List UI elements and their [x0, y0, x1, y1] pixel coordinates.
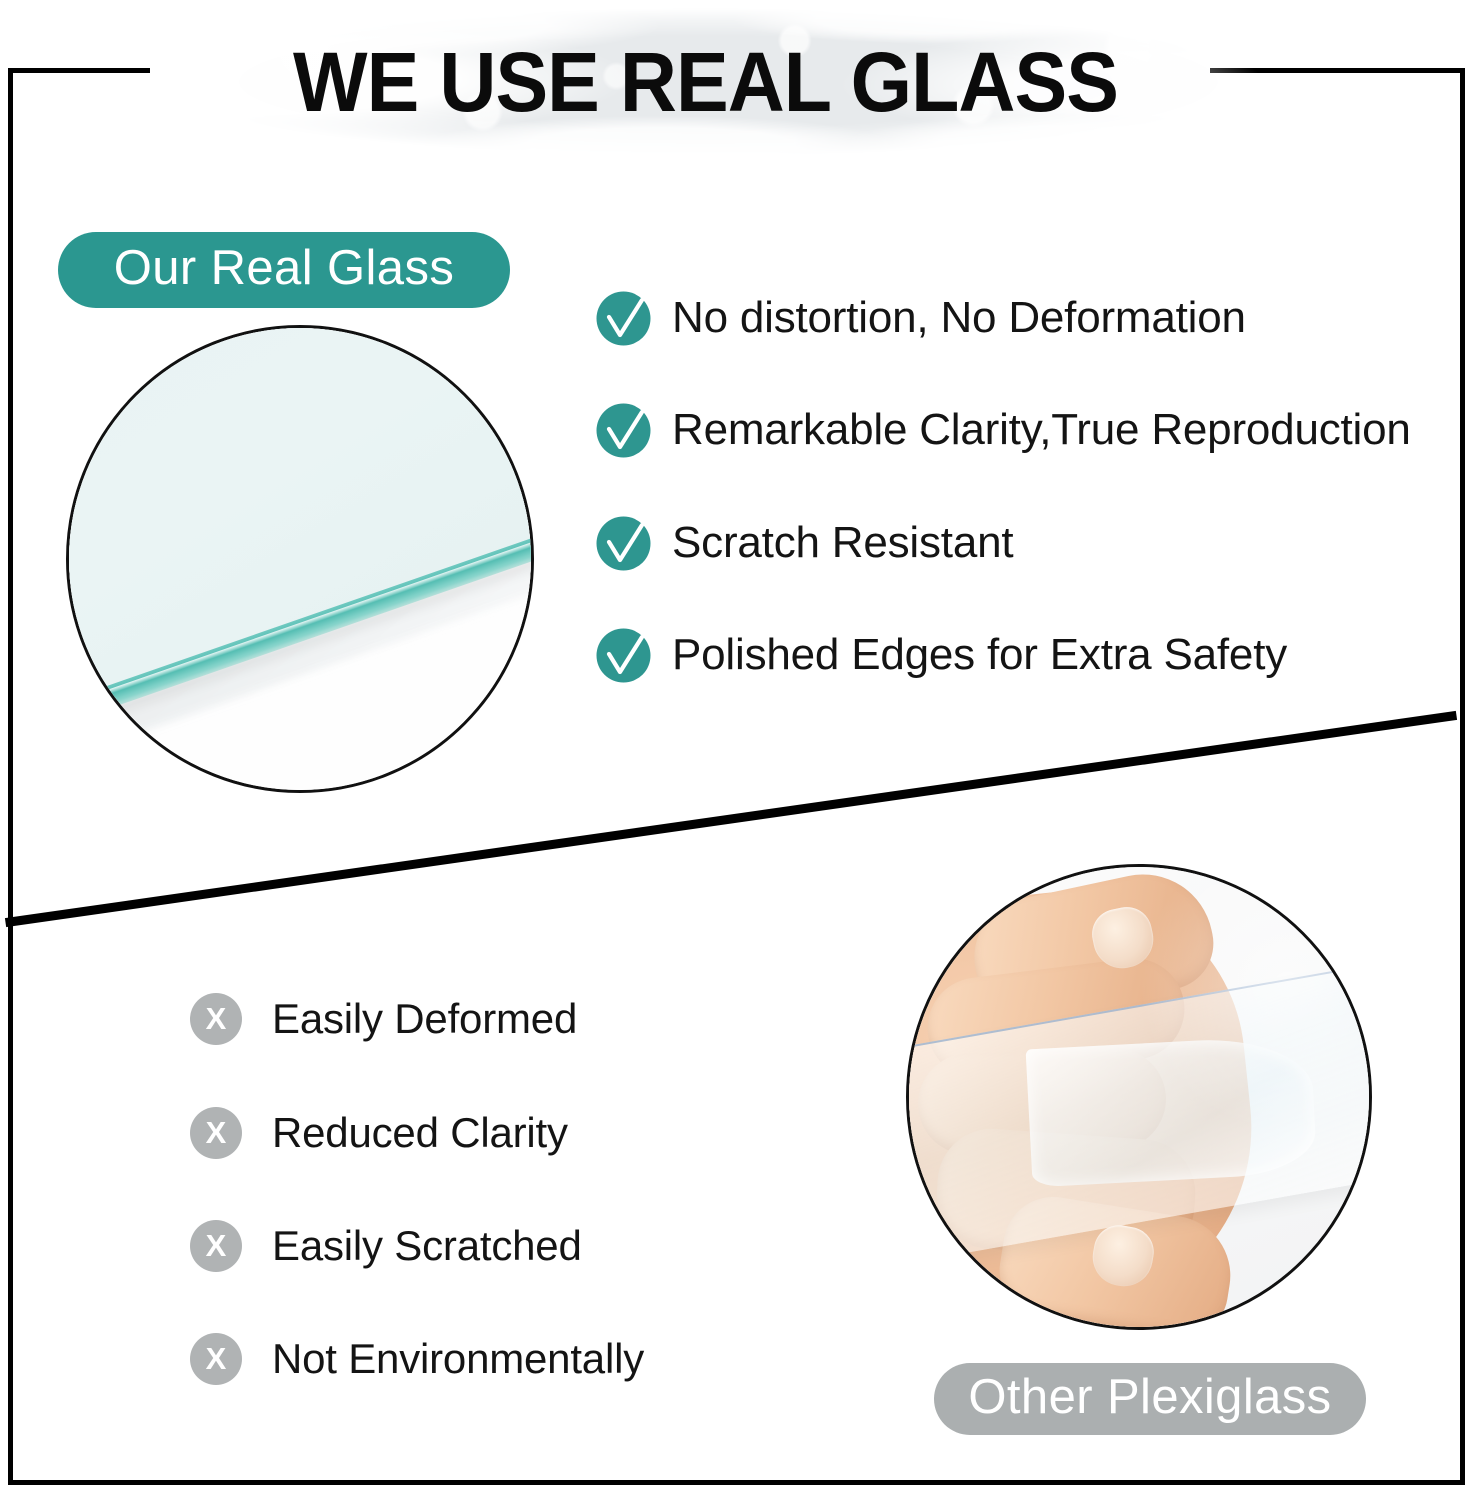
- list-item-label: Easily Scratched: [272, 1221, 582, 1271]
- list-item: X Easily Deformed: [190, 990, 577, 1048]
- our-real-glass-badge: Our Real Glass: [58, 232, 510, 308]
- x-icon: X: [190, 993, 242, 1045]
- check-icon: [596, 291, 651, 346]
- list-item: X Reduced Clarity: [190, 1104, 568, 1162]
- real-glass-photo: [66, 325, 534, 793]
- check-icon: [596, 628, 651, 683]
- x-icon: X: [190, 1220, 242, 1272]
- other-plexiglass-badge: Other Plexiglass: [934, 1363, 1366, 1435]
- list-item-label: No distortion, No Deformation: [672, 292, 1246, 344]
- title-banner: WE USE REAL GLASS: [148, 8, 1263, 156]
- list-item: Scratch Resistant: [596, 513, 1013, 573]
- other-plexiglass-badge-label: Other Plexiglass: [968, 1369, 1331, 1425]
- list-item-label: Remarkable Clarity,True Reproduction: [672, 404, 1411, 456]
- page-title: WE USE REAL GLASS: [181, 32, 1229, 132]
- hand-photo-gloss: [1139, 885, 1372, 1133]
- list-item: X Not Environmentally: [190, 1330, 644, 1388]
- list-item: X Easily Scratched: [190, 1217, 582, 1275]
- check-icon: [596, 403, 651, 458]
- check-icon: [596, 516, 651, 571]
- list-item: Remarkable Clarity,True Reproduction: [596, 400, 1411, 460]
- plexiglass-photo: [906, 864, 1372, 1330]
- list-item: No distortion, No Deformation: [596, 288, 1246, 348]
- list-item-label: Not Environmentally: [272, 1334, 644, 1384]
- list-item-label: Scratch Resistant: [672, 517, 1013, 569]
- list-item-label: Reduced Clarity: [272, 1108, 568, 1158]
- list-item-label: Polished Edges for Extra Safety: [672, 629, 1287, 681]
- x-icon: X: [190, 1333, 242, 1385]
- our-real-glass-badge-label: Our Real Glass: [114, 240, 455, 296]
- list-item: Polished Edges for Extra Safety: [596, 625, 1287, 685]
- list-item-label: Easily Deformed: [272, 994, 577, 1044]
- infographic-canvas: WE USE REAL GLASS Our Real Glass No dist…: [0, 0, 1474, 1500]
- x-icon: X: [190, 1107, 242, 1159]
